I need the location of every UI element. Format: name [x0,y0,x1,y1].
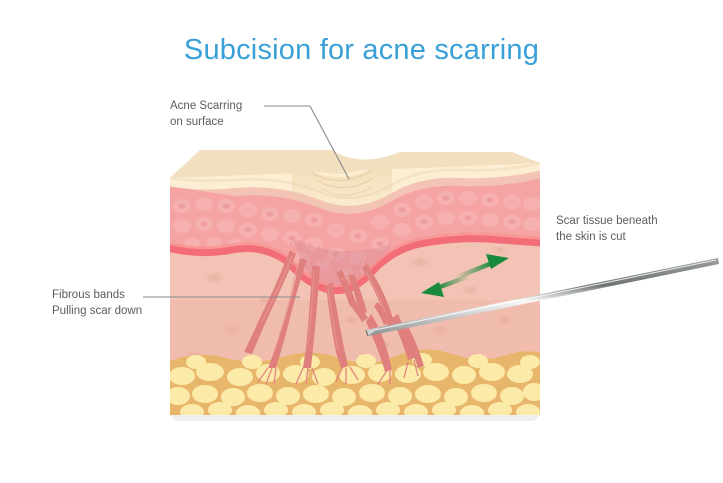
label-fibrous-bands: Fibrous bandsPulling scar down [52,288,142,319]
label-fibrous-line1: Fibrous bands [52,289,125,301]
illustration-canvas: Subcision for acne scarring [0,0,723,483]
label-acne-line2: on surface [170,116,224,128]
label-acne-scarring: Acne Scarringon surface [170,99,242,130]
label-fibrous-line2: Pulling scar down [52,305,142,317]
label-scar-tissue-cut: Scar tissue beneaththe skin is cut [556,214,658,245]
block-base-shadow [170,415,540,421]
label-scar-line2: the skin is cut [556,231,626,243]
label-scar-line1: Scar tissue beneath [556,215,658,227]
label-acne-line1: Acne Scarring [170,100,242,112]
